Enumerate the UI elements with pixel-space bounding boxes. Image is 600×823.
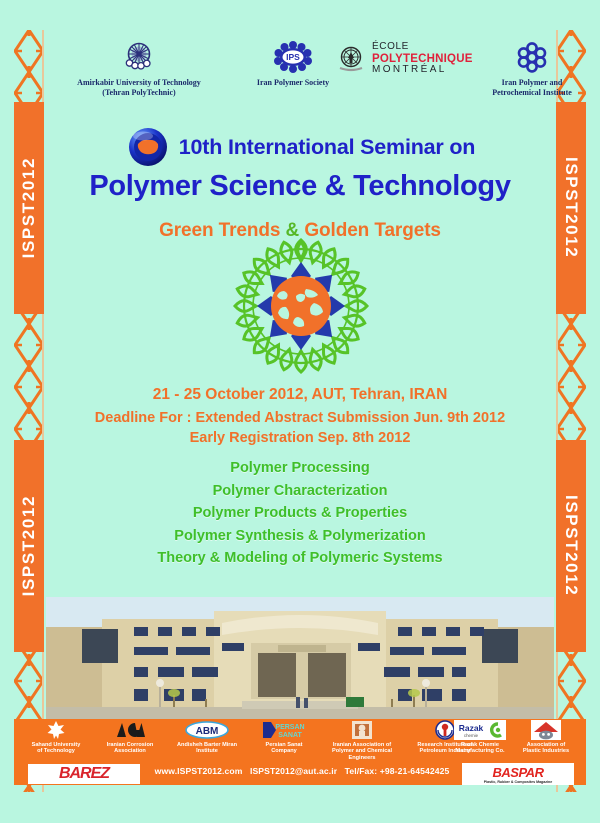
sponsor-plastic-industries: Association ofPlastic Industries <box>510 720 582 755</box>
seminar-subtitle: 10th International Seminar on <box>179 135 475 160</box>
logo-caption: Iran Polymer and Petrochemical Institute <box>478 78 586 98</box>
sponsor-iapce: Iranian Association ofPolymer and Chemic… <box>320 720 404 761</box>
topic-item: Polymer Synthesis & Polymerization <box>0 528 600 544</box>
iapce-logo-icon <box>320 720 404 740</box>
sponsor-name: Association ofPlastic Industries <box>510 742 582 755</box>
sponsor-name: Sahand Universityof Technology <box>20 742 92 755</box>
svg-text:PERSAN: PERSAN <box>275 724 304 731</box>
sponsor-name: Persian SanatCompany <box>248 742 320 755</box>
ippi-flower-icon <box>478 38 586 76</box>
persan-sanat-icon: PERSAN SANAT <box>248 720 320 740</box>
sahand-star-icon <box>20 720 92 740</box>
sponsor-name: Andisheh Barter MiranInstitute <box>168 742 246 755</box>
registration-deadline: Early Registration Sep. 8th 2012 <box>0 430 600 446</box>
topic-item: Polymer Processing <box>0 460 600 476</box>
amirkabir-rosette-icon <box>48 38 230 76</box>
dates-block: 21 - 25 October 2012, AUT, Tehran, IRAN … <box>0 386 600 446</box>
logo-caption: Amirkabir University of Technology (Tehr… <box>48 78 230 98</box>
barez-logo: BAREZ <box>28 764 140 784</box>
conference-poster: ISPST2012 ISPST2012 ISPST2012 ISPST2012 <box>0 0 600 823</box>
sponsor-name: Iranian CorrosionAssociation <box>94 742 166 755</box>
razak-chemie-icon: Razak chemie <box>442 720 518 740</box>
barez-wordmark: BAREZ <box>59 765 109 783</box>
title-subtitle-row: 10th International Seminar on <box>0 126 600 168</box>
sponsor-persan-sanat: PERSAN SANAT Persian SanatCompany <box>248 720 320 755</box>
svg-text:Razak: Razak <box>459 723 484 733</box>
baspar-subtitle: Plastic, Rubber & Composites Magazine <box>484 780 553 784</box>
abstract-deadline: Deadline For : Extended Abstract Submiss… <box>0 410 600 426</box>
logo-ippi: Iran Polymer and Petrochemical Institute <box>478 38 586 98</box>
topic-item: Polymer Products & Properties <box>0 505 600 521</box>
logo-amirkabir: Amirkabir University of Technology (Tehr… <box>48 38 230 98</box>
sponsor-logo-row: Sahand Universityof Technology Iranian C… <box>14 719 586 761</box>
topic-item: Theory & Modeling of Polymeric Systems <box>0 550 600 566</box>
sponsor-bar: Sahand Universityof Technology Iranian C… <box>14 719 586 785</box>
sponsor-name: Iranian Association ofPolymer and Chemic… <box>320 742 404 762</box>
sponsor-name: Razak ChemieManufacturing Co. <box>442 742 518 755</box>
campus-building-photo <box>46 597 554 719</box>
topics-list: Polymer Processing Polymer Characterizat… <box>0 460 600 573</box>
logo-caption: Iran Polymer Society <box>234 78 352 88</box>
topic-item: Polymer Characterization <box>0 483 600 499</box>
seminar-title: Polymer Science & Technology <box>0 170 600 203</box>
sponsor-razak: Razak chemie Razak ChemieManufacturing C… <box>442 720 518 755</box>
ica-logo-icon <box>94 720 166 740</box>
svg-text:ABM: ABM <box>196 726 219 737</box>
conference-website[interactable]: www.ISPST2012.com <box>155 766 243 776</box>
header-logo-strip: Amirkabir University of Technology (Tehr… <box>48 38 552 110</box>
svg-text:chemie: chemie <box>464 733 479 738</box>
sponsor-ica: Iranian CorrosionAssociation <box>94 720 166 755</box>
svg-text:IPS: IPS <box>286 52 300 62</box>
sponsor-sahand: Sahand Universityof Technology <box>20 720 92 755</box>
abm-oval-icon: ABM <box>168 720 246 740</box>
contact-details: www.ISPST2012.com ISPST2012@aut.ac.ir Te… <box>142 766 462 776</box>
title-block: 10th International Seminar on Polymer Sc… <box>0 126 600 242</box>
conference-phone: Tel/Fax: +98-21-64542425 <box>345 766 450 776</box>
sponsor-abm: ABM Andisheh Barter MiranInstitute <box>168 720 246 755</box>
baspar-wordmark: BASPAR <box>493 765 544 780</box>
contact-row: BAREZ www.ISPST2012.com ISPST2012@aut.ac… <box>14 763 586 785</box>
polytechnique-wordmark: ÉCOLE POLYTECHNIQUE MONTRÉAL <box>372 42 473 75</box>
logo-polytechnique-montreal: ÉCOLE POLYTECHNIQUE MONTRÉAL <box>334 40 484 78</box>
event-dates: 21 - 25 October 2012, AUT, Tehran, IRAN <box>0 386 600 404</box>
world-mandala-icon <box>228 233 374 379</box>
conference-email[interactable]: ISPST2012@aut.ac.ir <box>250 766 337 776</box>
plastic-industries-icon <box>510 720 582 740</box>
polytechnique-crest-icon <box>334 40 368 78</box>
baspar-magazine-logo: BASPAR Plastic, Rubber & Composites Maga… <box>462 763 574 785</box>
iran-globe-icon <box>125 126 171 168</box>
svg-text:SANAT: SANAT <box>278 732 302 739</box>
